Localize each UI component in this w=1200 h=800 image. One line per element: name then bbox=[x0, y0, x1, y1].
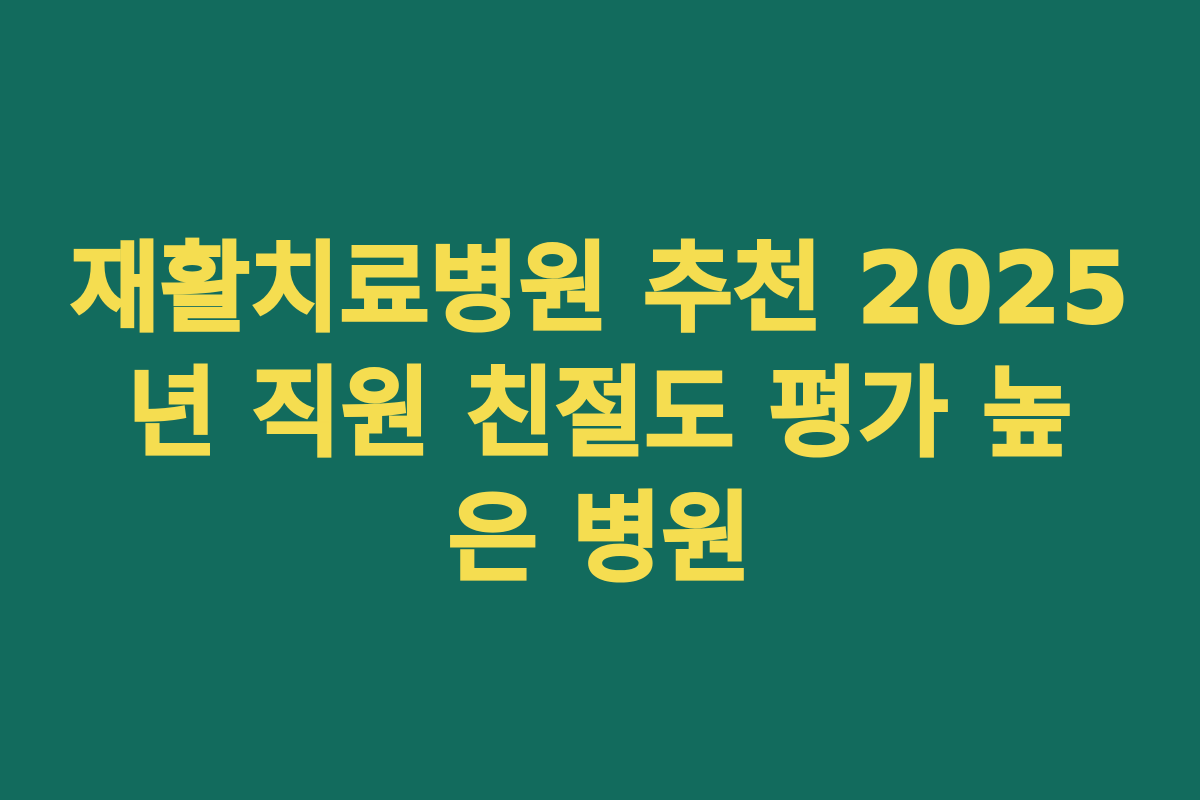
title-line-1: 재활치료병원 추천 2025 bbox=[70, 226, 1130, 351]
title-line-3: 은 병원 bbox=[70, 476, 1130, 601]
title-line-2: 년 직원 친절도 평가 높 bbox=[70, 351, 1130, 476]
page-title: 재활치료병원 추천 2025 년 직원 친절도 평가 높 은 병원 bbox=[70, 226, 1130, 601]
thumbnail-card: 재활치료병원 추천 2025 년 직원 친절도 평가 높 은 병원 bbox=[0, 0, 1200, 800]
